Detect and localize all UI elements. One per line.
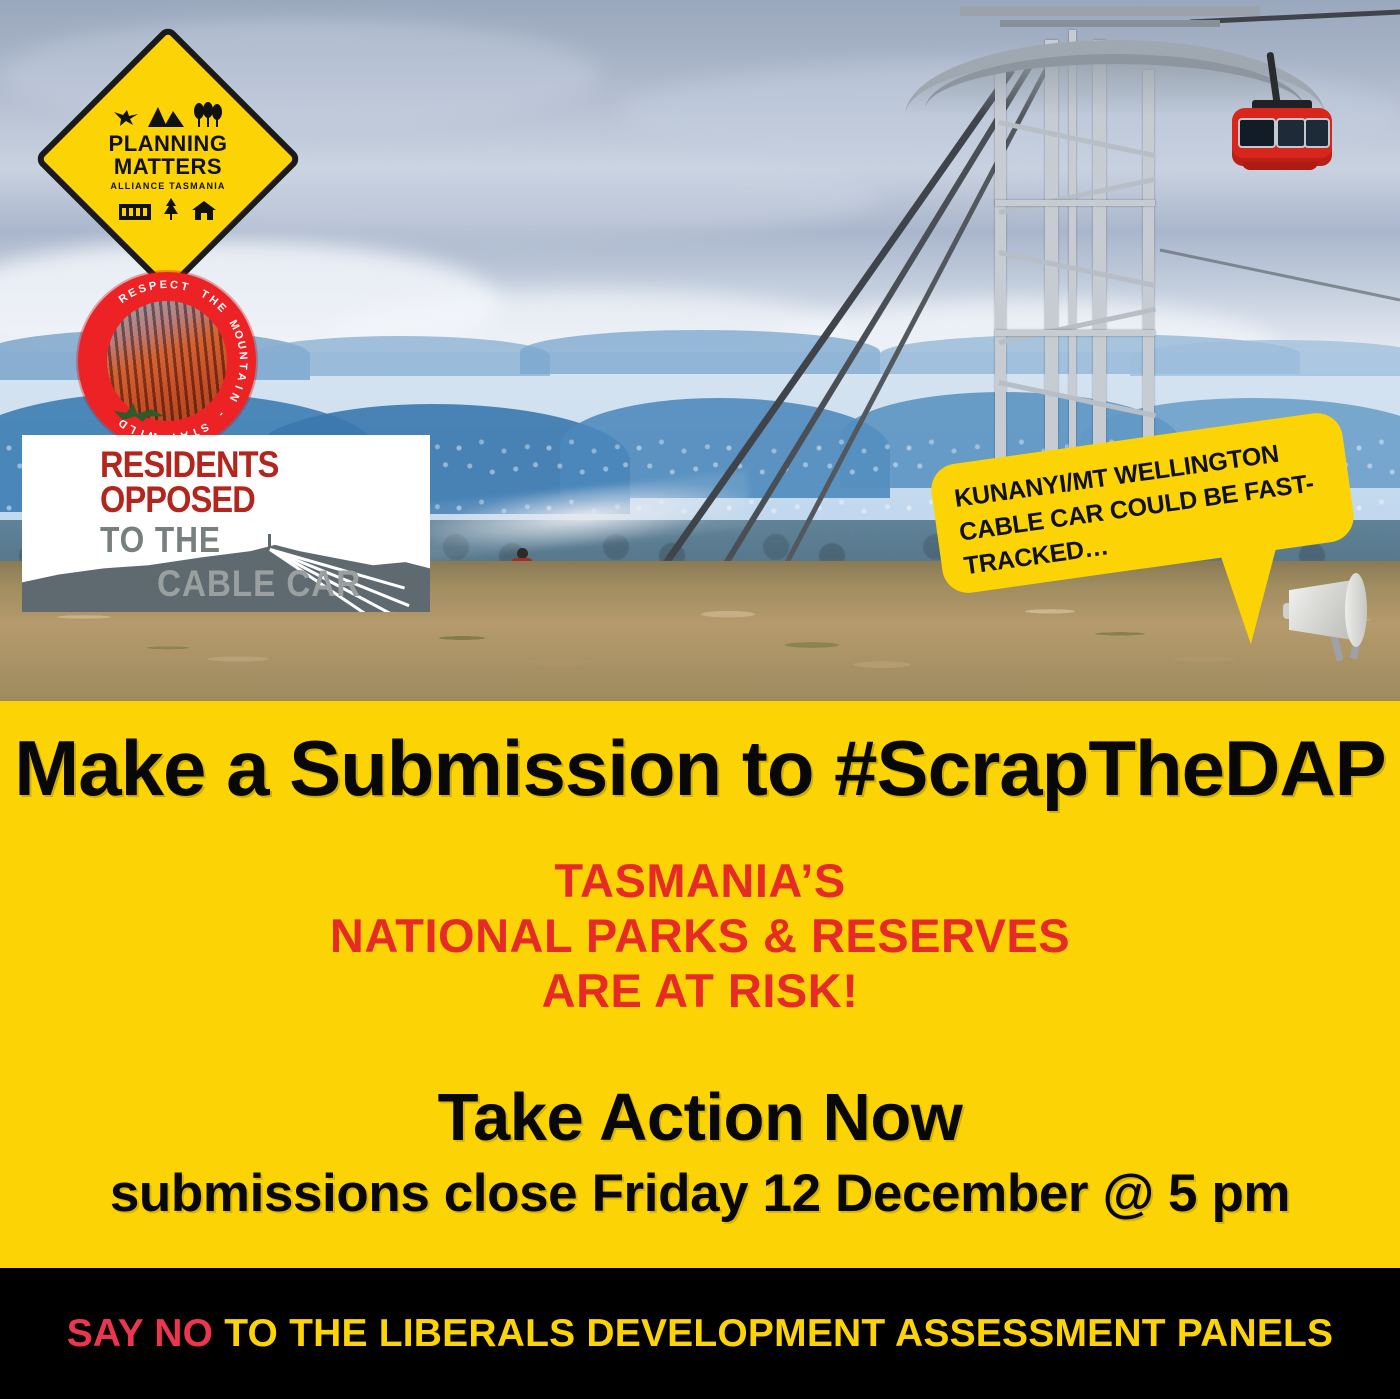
roc-line1: RESIDENTS [100, 447, 278, 482]
building-icon [119, 200, 151, 220]
ring-letter: T [237, 363, 249, 371]
ring-letter: E [159, 279, 167, 291]
campaign-poster: PLANNING MATTERS ALLIANCE TASMANIA [0, 0, 1400, 1399]
ring-letter: N [237, 351, 250, 360]
ring-letter: I [232, 384, 244, 391]
eagle-icon [113, 106, 139, 128]
footer-rest: TO THE LIBERALS DEVELOPMENT ASSESSMENT P… [213, 1312, 1333, 1355]
ring-letter: U [235, 340, 248, 350]
page-title: Make a Submission to #ScrapTheDAP [0, 723, 1400, 814]
planning-matters-subtitle: ALLIANCE TASMANIA [110, 181, 225, 191]
ring-letter: S [137, 282, 148, 296]
ring-letter: A [235, 372, 248, 382]
ring-letter: P [148, 280, 157, 293]
planning-matters-logo: PLANNING MATTERS ALLIANCE TASMANIA [73, 64, 263, 254]
ring-letter [223, 401, 234, 411]
warning-line-2: NATIONAL PARKS & RESERVES [0, 908, 1400, 963]
deadline-text: submissions close Friday 12 December @ 5… [0, 1163, 1400, 1224]
yellow-message-panel: Make a Submission to #ScrapTheDAP TASMAN… [0, 701, 1400, 1268]
warning-line-1: TASMANIA’S [0, 853, 1400, 908]
ring-letter [191, 284, 198, 296]
megaphone-icon [1283, 575, 1379, 657]
residents-opposed-to-the-cable-car-logo: RESIDENTS OPPOSED TO THE CABLE CAR [22, 435, 430, 612]
logo-icons-top [113, 98, 223, 128]
mountain-icon [146, 104, 186, 128]
house-icon [191, 200, 217, 220]
eagle-icon [112, 398, 166, 424]
footer-emphasis: SAY NO [67, 1312, 213, 1355]
ring-letter: S [198, 420, 210, 434]
roc-line3: TO THE [100, 519, 221, 561]
gantry-beam [960, 6, 1260, 16]
summit-mast-icon [268, 534, 271, 556]
roc-line4: CABLE CAR [157, 563, 361, 605]
respect-ring-text: RESPECT THE MOUNTAIN - STAY WILD [78, 272, 256, 450]
ring-letter: C [170, 279, 179, 292]
warning-line-3: ARE AT RISK! [0, 963, 1400, 1018]
roc-line2: OPPOSED [100, 482, 278, 517]
ring-letter: T [180, 280, 189, 293]
gantry-beam [1000, 20, 1220, 27]
tree-icon [159, 198, 183, 220]
planning-matters-line1: PLANNING [109, 133, 228, 154]
ring-letter [208, 416, 218, 427]
ring-letter: N [227, 391, 241, 404]
respect-the-mountain-logo: RESPECT THE MOUNTAIN - STAY WILD [78, 272, 256, 450]
forest-icon [193, 102, 223, 128]
ring-letter: - [216, 409, 227, 420]
logo-icons-bottom [119, 198, 217, 220]
cable-car-gondola [1226, 96, 1334, 182]
footer-slogan: SAY NO TO THE LIBERALS DEVELOPMENT ASSES… [0, 1312, 1400, 1356]
call-to-action: Take Action Now [0, 1079, 1400, 1156]
planning-matters-line2: MATTERS [114, 156, 222, 177]
risk-warning: TASMANIA’S NATIONAL PARKS & RESERVES ARE… [0, 853, 1400, 1018]
footer-bar: SAY NO TO THE LIBERALS DEVELOPMENT ASSES… [0, 1268, 1400, 1399]
